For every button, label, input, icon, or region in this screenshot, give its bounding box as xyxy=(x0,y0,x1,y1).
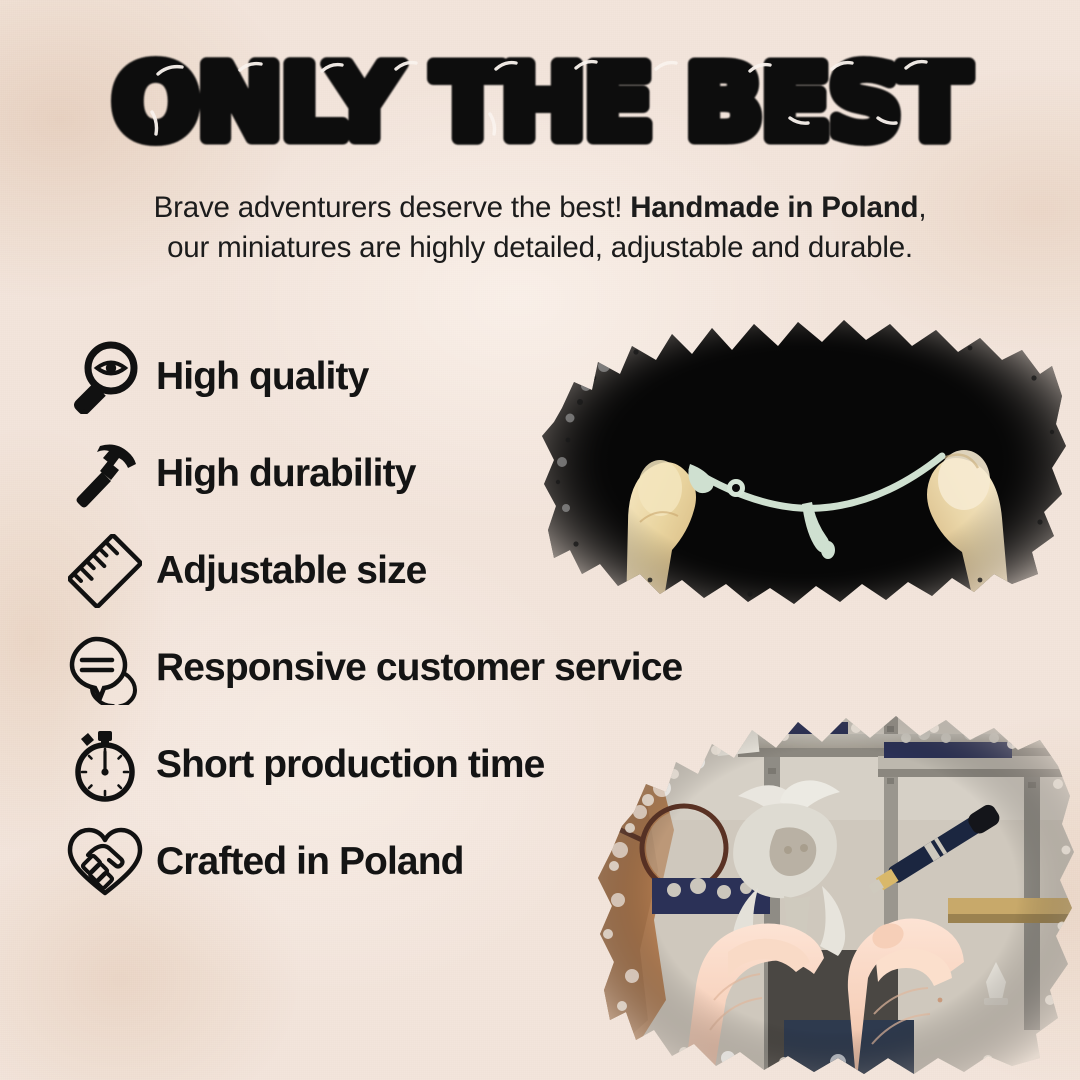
speech-bubbles-icon xyxy=(64,627,146,709)
handshake-heart-icon xyxy=(64,821,146,903)
feature-label: Short production time xyxy=(156,745,544,784)
feature-label: Responsive customer service xyxy=(156,648,682,687)
page-title: ONLY THE BEST xyxy=(0,38,1080,166)
feature-label: High durability xyxy=(156,454,416,493)
subtitle: Brave adventurers deserve the best! Hand… xyxy=(60,188,1020,268)
ruler-icon xyxy=(64,530,146,612)
stopwatch-icon xyxy=(64,724,146,806)
hammer-icon xyxy=(64,433,146,515)
feature-label: Adjustable size xyxy=(156,551,426,590)
subtitle-line-2: our miniatures are highly detailed, adju… xyxy=(167,231,913,264)
promo-graphic-canvas: ONLY THE BEST Brave adventurers de xyxy=(0,0,1080,1080)
feature-label: High quality xyxy=(156,357,368,396)
miniature-detail-photo xyxy=(540,312,1070,612)
workshop-crafting-photo xyxy=(588,700,1080,1080)
subtitle-lead: Brave adventurers deserve the best! xyxy=(154,191,623,224)
page-title-svg: ONLY THE BEST xyxy=(90,38,990,166)
magnifier-eye-icon xyxy=(64,336,146,418)
feature-label: Crafted in Poland xyxy=(156,842,464,881)
subtitle-comma: , xyxy=(918,191,926,224)
subtitle-bold-phrase: Handmade in Poland xyxy=(630,191,918,224)
